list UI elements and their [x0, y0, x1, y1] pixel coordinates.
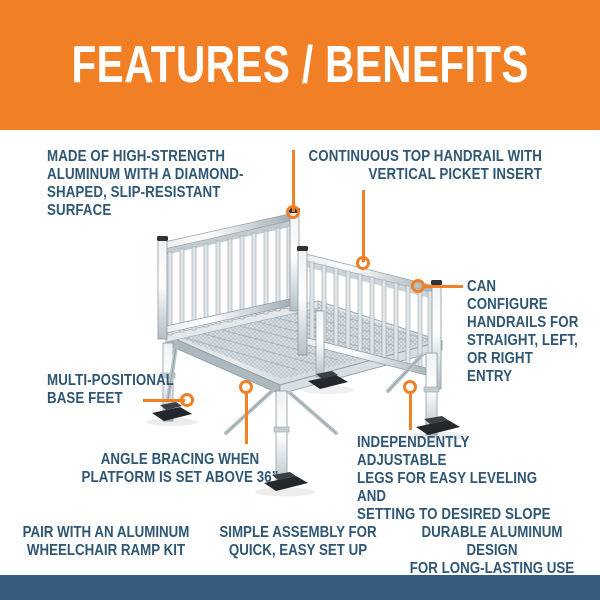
callout-label-material: MADE OF HIGH-STRENGTH ALUMINUM WITH A DI…: [47, 148, 262, 220]
header-banner: FEATURES / BENEFITS: [0, 0, 600, 130]
callout-dot-brace: [239, 380, 253, 394]
callout-line-configure: [423, 285, 463, 288]
callout-line-adjustable-legs: [409, 392, 412, 430]
callout-dot-handrail: [356, 256, 370, 270]
callout-label-adjustable-legs: INDEPENDENTLY ADJUSTABLE LEGS FOR EASY L…: [357, 434, 559, 524]
callout-dot-leg: [403, 380, 417, 394]
callout-dot-base-foot: [180, 393, 194, 407]
callout-dot-deck: [286, 205, 300, 219]
callout-label-configure: CAN CONFIGURE HANDRAILS FOR STRAIGHT, LE…: [467, 278, 579, 386]
callout-label-handrail: CONTINUOUS TOP HANDRAIL WITH VERTICAL PI…: [293, 148, 542, 184]
callout-line-angle-bracing: [245, 392, 248, 444]
bottom-col-ramp-kit: PAIR WITH AN ALUMINUM WHEELCHAIR RAMP KI…: [20, 524, 192, 560]
footer-bar: [0, 575, 600, 600]
callout-line-handrail: [362, 190, 365, 262]
callout-label-base-feet: MULTI-POSITIONAL BASE FEET: [47, 372, 185, 408]
callout-line-base-feet: [143, 399, 185, 402]
callout-label-angle-bracing: ANGLE BRACING WHEN PLATFORM IS SET ABOVE…: [77, 451, 283, 487]
page-title: FEATURES / BENEFITS: [71, 39, 528, 91]
callout-dot-right-rail: [411, 279, 425, 293]
bottom-col-assembly: SIMPLE ASSEMBLY FOR QUICK, EASY SET UP: [212, 524, 384, 560]
bottom-col-durable: DURABLE ALUMINUM DESIGN FOR LONG-LASTING…: [406, 524, 578, 578]
